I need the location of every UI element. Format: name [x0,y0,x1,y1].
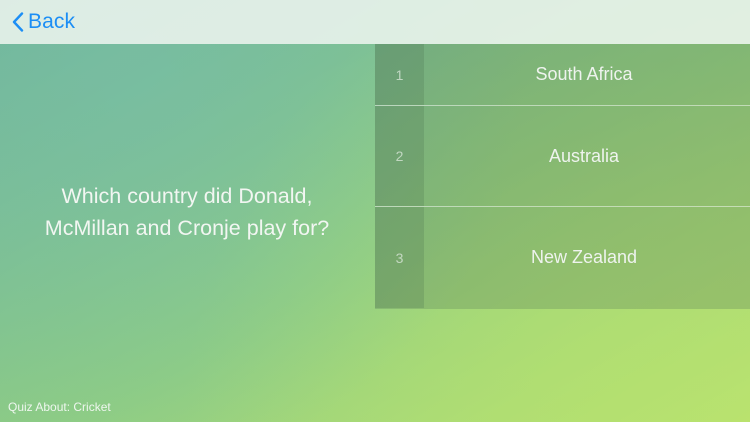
chevron-left-icon [12,12,24,32]
answer-option-2[interactable]: 2 Australia [375,106,750,207]
quiz-app-screen: Back Which country did Donald, McMillan … [0,0,750,422]
answer-option-3[interactable]: 3 New Zealand [375,207,750,308]
back-button[interactable]: Back [12,0,75,44]
question-panel: Which country did Donald, McMillan and C… [0,44,374,380]
answers-list: 1 South Africa 2 Australia 3 New Zealand [375,44,750,309]
navigation-bar: Back [0,0,750,44]
question-text: Which country did Donald, McMillan and C… [22,180,352,244]
answer-option-1[interactable]: 1 South Africa [375,44,750,106]
answer-label: South Africa [424,64,750,85]
quiz-content: Which country did Donald, McMillan and C… [0,44,750,422]
back-button-label: Back [28,10,75,34]
answer-label: Australia [424,146,750,167]
answer-label: New Zealand [424,247,750,268]
answer-index: 2 [375,106,424,206]
quiz-topic-label: Quiz About: Cricket [8,400,111,414]
answer-index: 1 [375,44,424,105]
answer-index: 3 [375,207,424,308]
